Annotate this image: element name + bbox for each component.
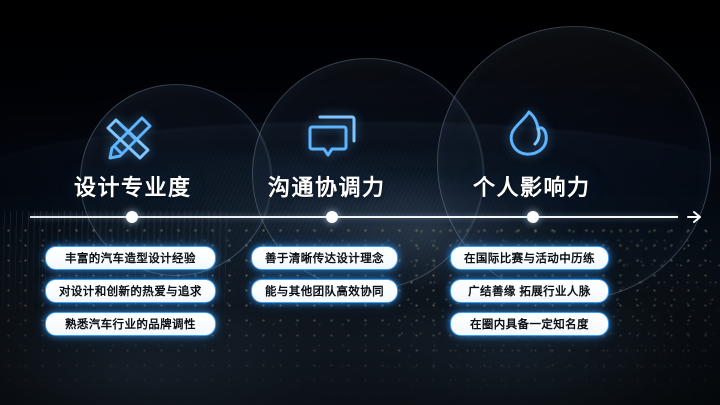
pill-group-communication: 善于清晰传达设计理念 能与其他团队高效协同 <box>251 246 398 303</box>
column-heading-design: 设计专业度 <box>74 170 192 202</box>
pill-group-design: 丰富的汽车造型设计经验 对设计和创新的热爱与追求 熟悉汽车行业的品牌调性 <box>45 246 216 336</box>
timeline-arrow-icon <box>686 209 702 225</box>
timeline-node-1 <box>126 211 138 223</box>
column-heading-communication: 沟通协调力 <box>268 170 386 202</box>
pill-item[interactable]: 在圈内具备一定知名度 <box>450 312 609 336</box>
chat-bubbles-icon <box>302 110 362 164</box>
pill-item[interactable]: 对设计和创新的热爱与追求 <box>45 279 216 303</box>
timeline-node-2 <box>326 211 338 223</box>
pill-item[interactable]: 广结善缘 拓展行业人脉 <box>450 279 609 303</box>
flame-icon <box>500 104 558 162</box>
pill-item[interactable]: 丰富的汽车造型设计经验 <box>45 246 216 270</box>
pen-ruler-icon <box>96 108 160 168</box>
pill-item[interactable]: 善于清晰传达设计理念 <box>251 246 398 270</box>
pill-item[interactable]: 在国际比赛与活动中历练 <box>450 246 609 270</box>
pill-item[interactable]: 熟悉汽车行业的品牌调性 <box>45 312 216 336</box>
pill-group-influence: 在国际比赛与活动中历练 广结善缘 拓展行业人脉 在圈内具备一定知名度 <box>450 246 609 336</box>
timeline-axis <box>30 207 702 227</box>
pill-item[interactable]: 能与其他团队高效协同 <box>251 279 398 303</box>
timeline-node-3 <box>527 211 539 223</box>
slide-canvas: 设计专业度 沟通协调力 个人影响力 丰富的汽车造型设计经验 对设计和创新的热爱与… <box>0 0 720 405</box>
column-heading-influence: 个人影响力 <box>473 170 591 202</box>
